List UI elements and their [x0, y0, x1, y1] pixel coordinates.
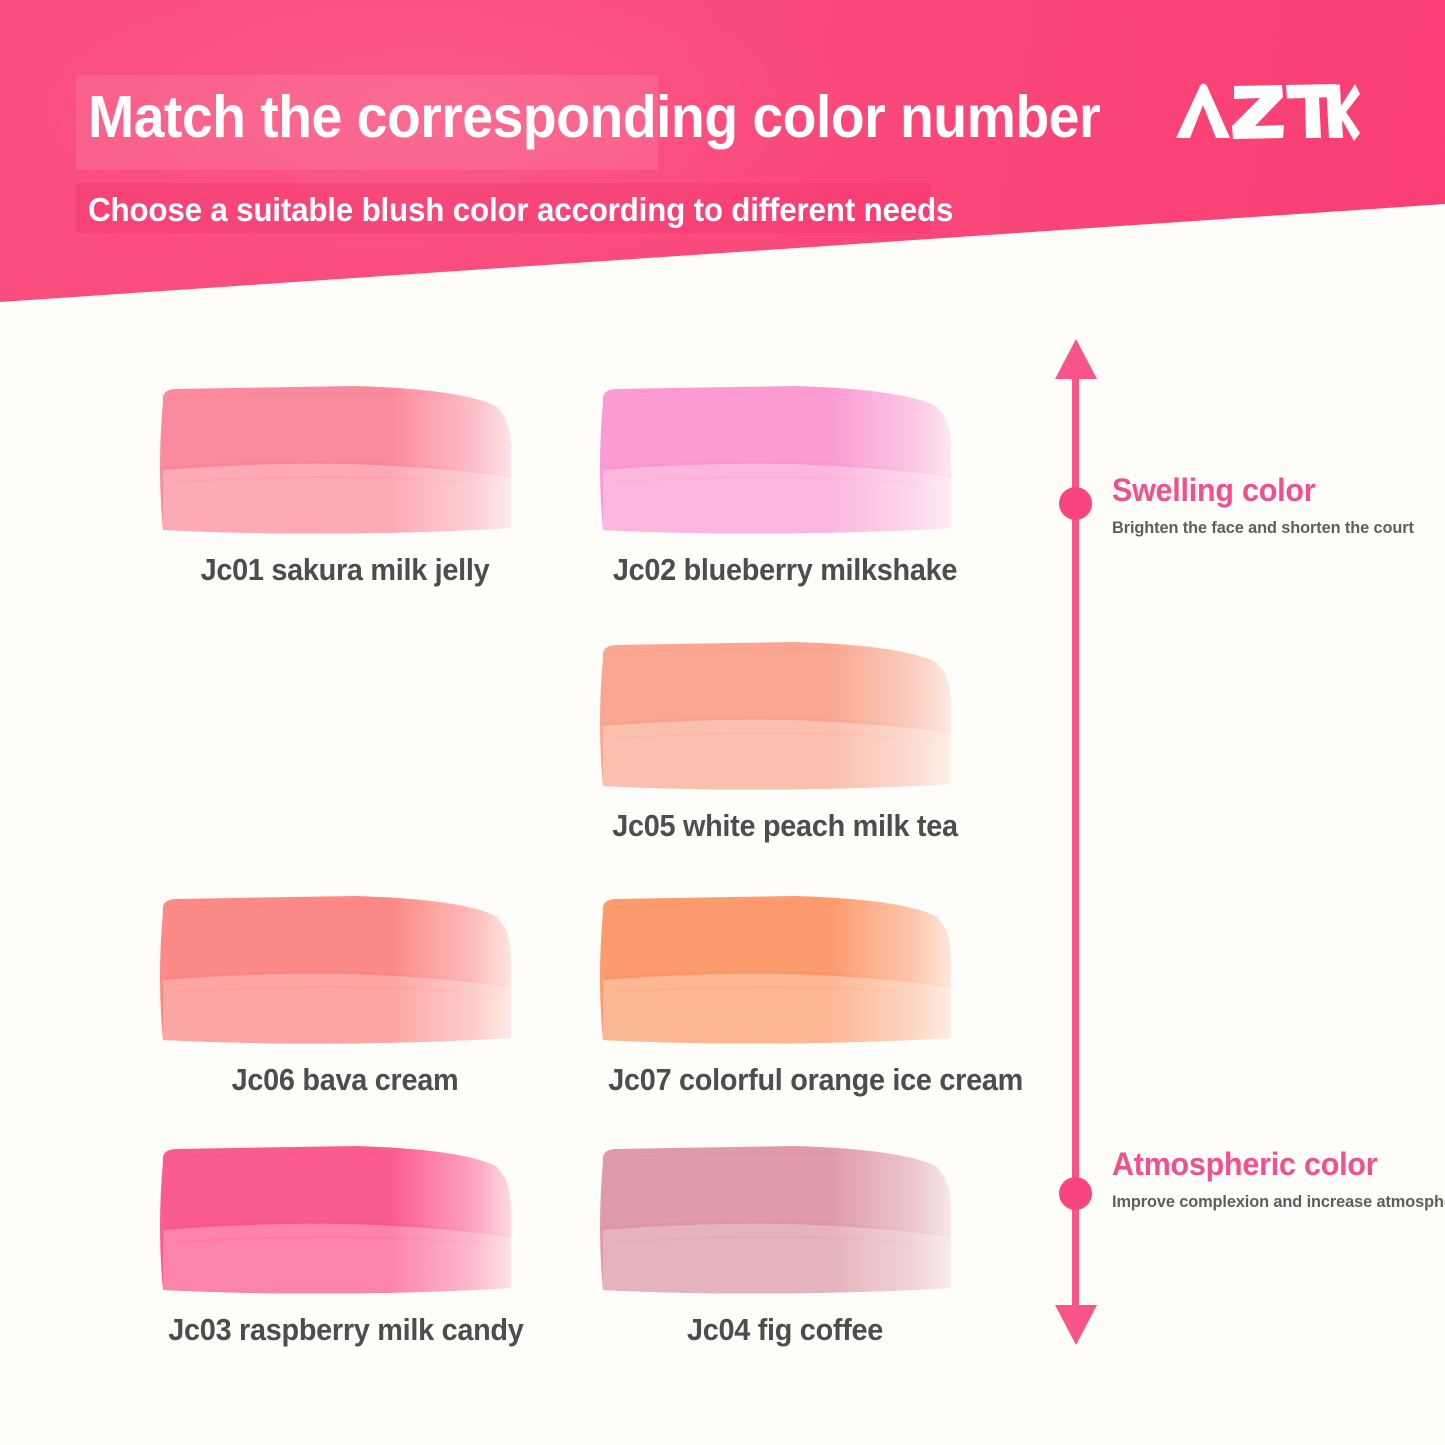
swatch-card-jc04[interactable]: Jc04 fig coffee — [595, 1138, 975, 1348]
swatch-card-jc06[interactable]: Jc06 bava cream — [155, 888, 535, 1098]
axis-subtext-swelling: Brighten the face and shorten the court — [1112, 518, 1414, 538]
axis-subtext-atmospheric: Improve complexion and increase atmosphe… — [1112, 1192, 1445, 1212]
page-title: Match the corresponding color number — [88, 88, 1100, 147]
swatch-smear-jc03 — [155, 1138, 535, 1298]
swatch-label-jc05: Jc05 white peach milk tea — [608, 808, 961, 844]
swatch-card-jc03[interactable]: Jc03 raspberry milk candy — [155, 1138, 535, 1348]
poster-root: Match the corresponding color number Cho… — [0, 0, 1445, 1445]
swatch-label-jc01: Jc01 sakura milk jelly — [168, 552, 521, 588]
swatch-smear-jc07 — [595, 888, 975, 1048]
swatch-label-jc03: Jc03 raspberry milk candy — [168, 1312, 521, 1348]
swatch-smear-jc02 — [595, 378, 975, 538]
brand-logo-aztk — [1174, 80, 1360, 142]
swatch-smear-jc04 — [595, 1138, 975, 1298]
swatch-card-jc07[interactable]: Jc07 colorful orange ice cream — [595, 888, 975, 1098]
header-banner — [0, 0, 1445, 320]
axis-legend-swelling: Swelling color Brighten the face and sho… — [1112, 472, 1426, 538]
axis-legend-atmospheric: Atmospheric color Improve complexion and… — [1112, 1146, 1445, 1212]
swatch-card-jc01[interactable]: Jc01 sakura milk jelly — [155, 378, 535, 588]
axis-heading-atmospheric: Atmospheric color — [1112, 1146, 1445, 1183]
swatch-label-jc06: Jc06 bava cream — [168, 1062, 521, 1098]
swatch-label-jc07: Jc07 colorful orange ice cream — [608, 1062, 961, 1098]
axis-marker-atmospheric — [1059, 1177, 1092, 1210]
arrow-down-icon — [1055, 1303, 1097, 1345]
page-subtitle: Choose a suitable blush color according … — [88, 190, 953, 230]
swatch-label-jc02: Jc02 blueberry milkshake — [608, 552, 961, 588]
swatch-smear-jc05 — [595, 634, 975, 794]
swatch-label-jc04: Jc04 fig coffee — [608, 1312, 961, 1348]
swatch-smear-jc06 — [155, 888, 535, 1048]
axis-marker-swelling — [1059, 487, 1092, 520]
swatch-card-jc05[interactable]: Jc05 white peach milk tea — [595, 634, 975, 844]
axis-heading-swelling: Swelling color — [1112, 472, 1411, 509]
arrow-up-icon — [1055, 339, 1097, 381]
swatch-smear-jc01 — [155, 378, 535, 538]
swatch-card-jc02[interactable]: Jc02 blueberry milkshake — [595, 378, 975, 588]
